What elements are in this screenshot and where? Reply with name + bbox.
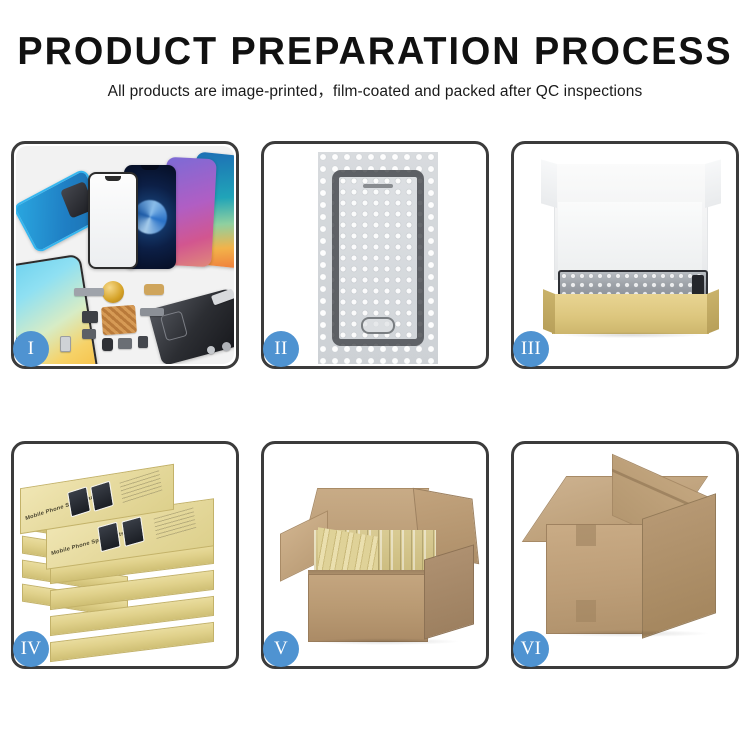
- screen-earpiece-slot: [363, 184, 393, 188]
- box-label-screenshot-1b: [90, 481, 114, 512]
- step-panel-4[interactable]: Mobile Phone Spare Parts Mobile Phone Sp…: [11, 441, 239, 669]
- spare-part-connector-4: [118, 338, 132, 349]
- carton-side-panel: [424, 544, 474, 639]
- spare-part-flex-cable: [140, 308, 164, 316]
- mailer-box-front-panel: [552, 294, 709, 334]
- step-image-inner-box: [516, 146, 734, 364]
- sealed-carton-front-panel: [546, 524, 646, 634]
- step-panel-3[interactable]: III: [511, 141, 739, 369]
- step-panel-5[interactable]: V: [261, 441, 489, 669]
- step-image-raw-materials: [16, 146, 234, 364]
- spare-part-connector-3: [102, 338, 113, 351]
- spare-part-connector-1: [82, 311, 98, 323]
- carton-front-panel: [308, 574, 428, 642]
- bubble-wrap-sheet: [318, 152, 438, 364]
- spare-part-circuit-board: [101, 305, 137, 335]
- box-label-screenshot-1a: [67, 486, 91, 517]
- spare-part-sim-tray: [60, 336, 71, 352]
- carton-shadow: [310, 638, 460, 645]
- process-step-grid: I II III: [0, 141, 750, 669]
- spare-part-connector-2: [82, 329, 96, 339]
- step-image-bubble-wrap: [266, 146, 484, 364]
- page-title: PRODUCT PREPARATION PROCESS: [11, 30, 739, 74]
- step-badge-1: I: [13, 331, 49, 367]
- step-badge-5: V: [263, 631, 299, 667]
- step-image-box-stack: Mobile Phone Spare Parts Mobile Phone Sp…: [16, 446, 234, 664]
- box-label-spec-lines-1: [120, 470, 163, 504]
- box-label-screenshot-2b: [121, 516, 144, 547]
- page-header: PRODUCT PREPARATION PROCESS All products…: [0, 0, 750, 103]
- step-badge-6: VI: [513, 631, 549, 667]
- phone-glass-panel-white: [88, 172, 138, 269]
- step-panel-6[interactable]: VI: [511, 441, 739, 669]
- screen-home-button: [361, 317, 395, 334]
- wrapped-screen-assembly: [332, 170, 424, 346]
- step-panel-2[interactable]: II: [261, 141, 489, 369]
- spare-part-gold-coil: [102, 281, 124, 303]
- step-badge-3: III: [513, 331, 549, 367]
- spare-part-screw-1: [222, 342, 231, 351]
- box-label-screenshot-2a: [97, 522, 120, 553]
- sealed-carton-shadow: [552, 630, 708, 637]
- step-badge-2: II: [263, 331, 299, 367]
- page-subtitle: All products are image-printed，film-coat…: [0, 81, 750, 103]
- mailer-box-shadow: [560, 332, 702, 338]
- step-image-sealed-carton: [516, 446, 734, 664]
- step-image-carton-filling: [266, 446, 484, 664]
- mailer-box-foam-lining: [558, 202, 702, 278]
- process-row-2: Mobile Phone Spare Parts Mobile Phone Sp…: [0, 441, 750, 669]
- sealed-carton-tape-patch-top: [576, 524, 596, 546]
- step-panel-1[interactable]: I: [11, 141, 239, 369]
- spare-part-connector-5: [138, 336, 148, 348]
- spare-part-bar: [74, 288, 104, 296]
- sealed-carton-tape-patch-bottom: [576, 600, 596, 622]
- box-label-spec-lines-2: [154, 507, 197, 539]
- step-badge-4: IV: [13, 631, 49, 667]
- spare-part-gold-clip: [144, 284, 164, 295]
- yellow-box-stack: Mobile Phone Spare Parts Mobile Phone Sp…: [16, 446, 234, 664]
- process-row-1: I II III: [0, 141, 750, 369]
- spare-part-screw-2: [207, 346, 215, 354]
- sealed-carton-side-panel: [642, 493, 716, 638]
